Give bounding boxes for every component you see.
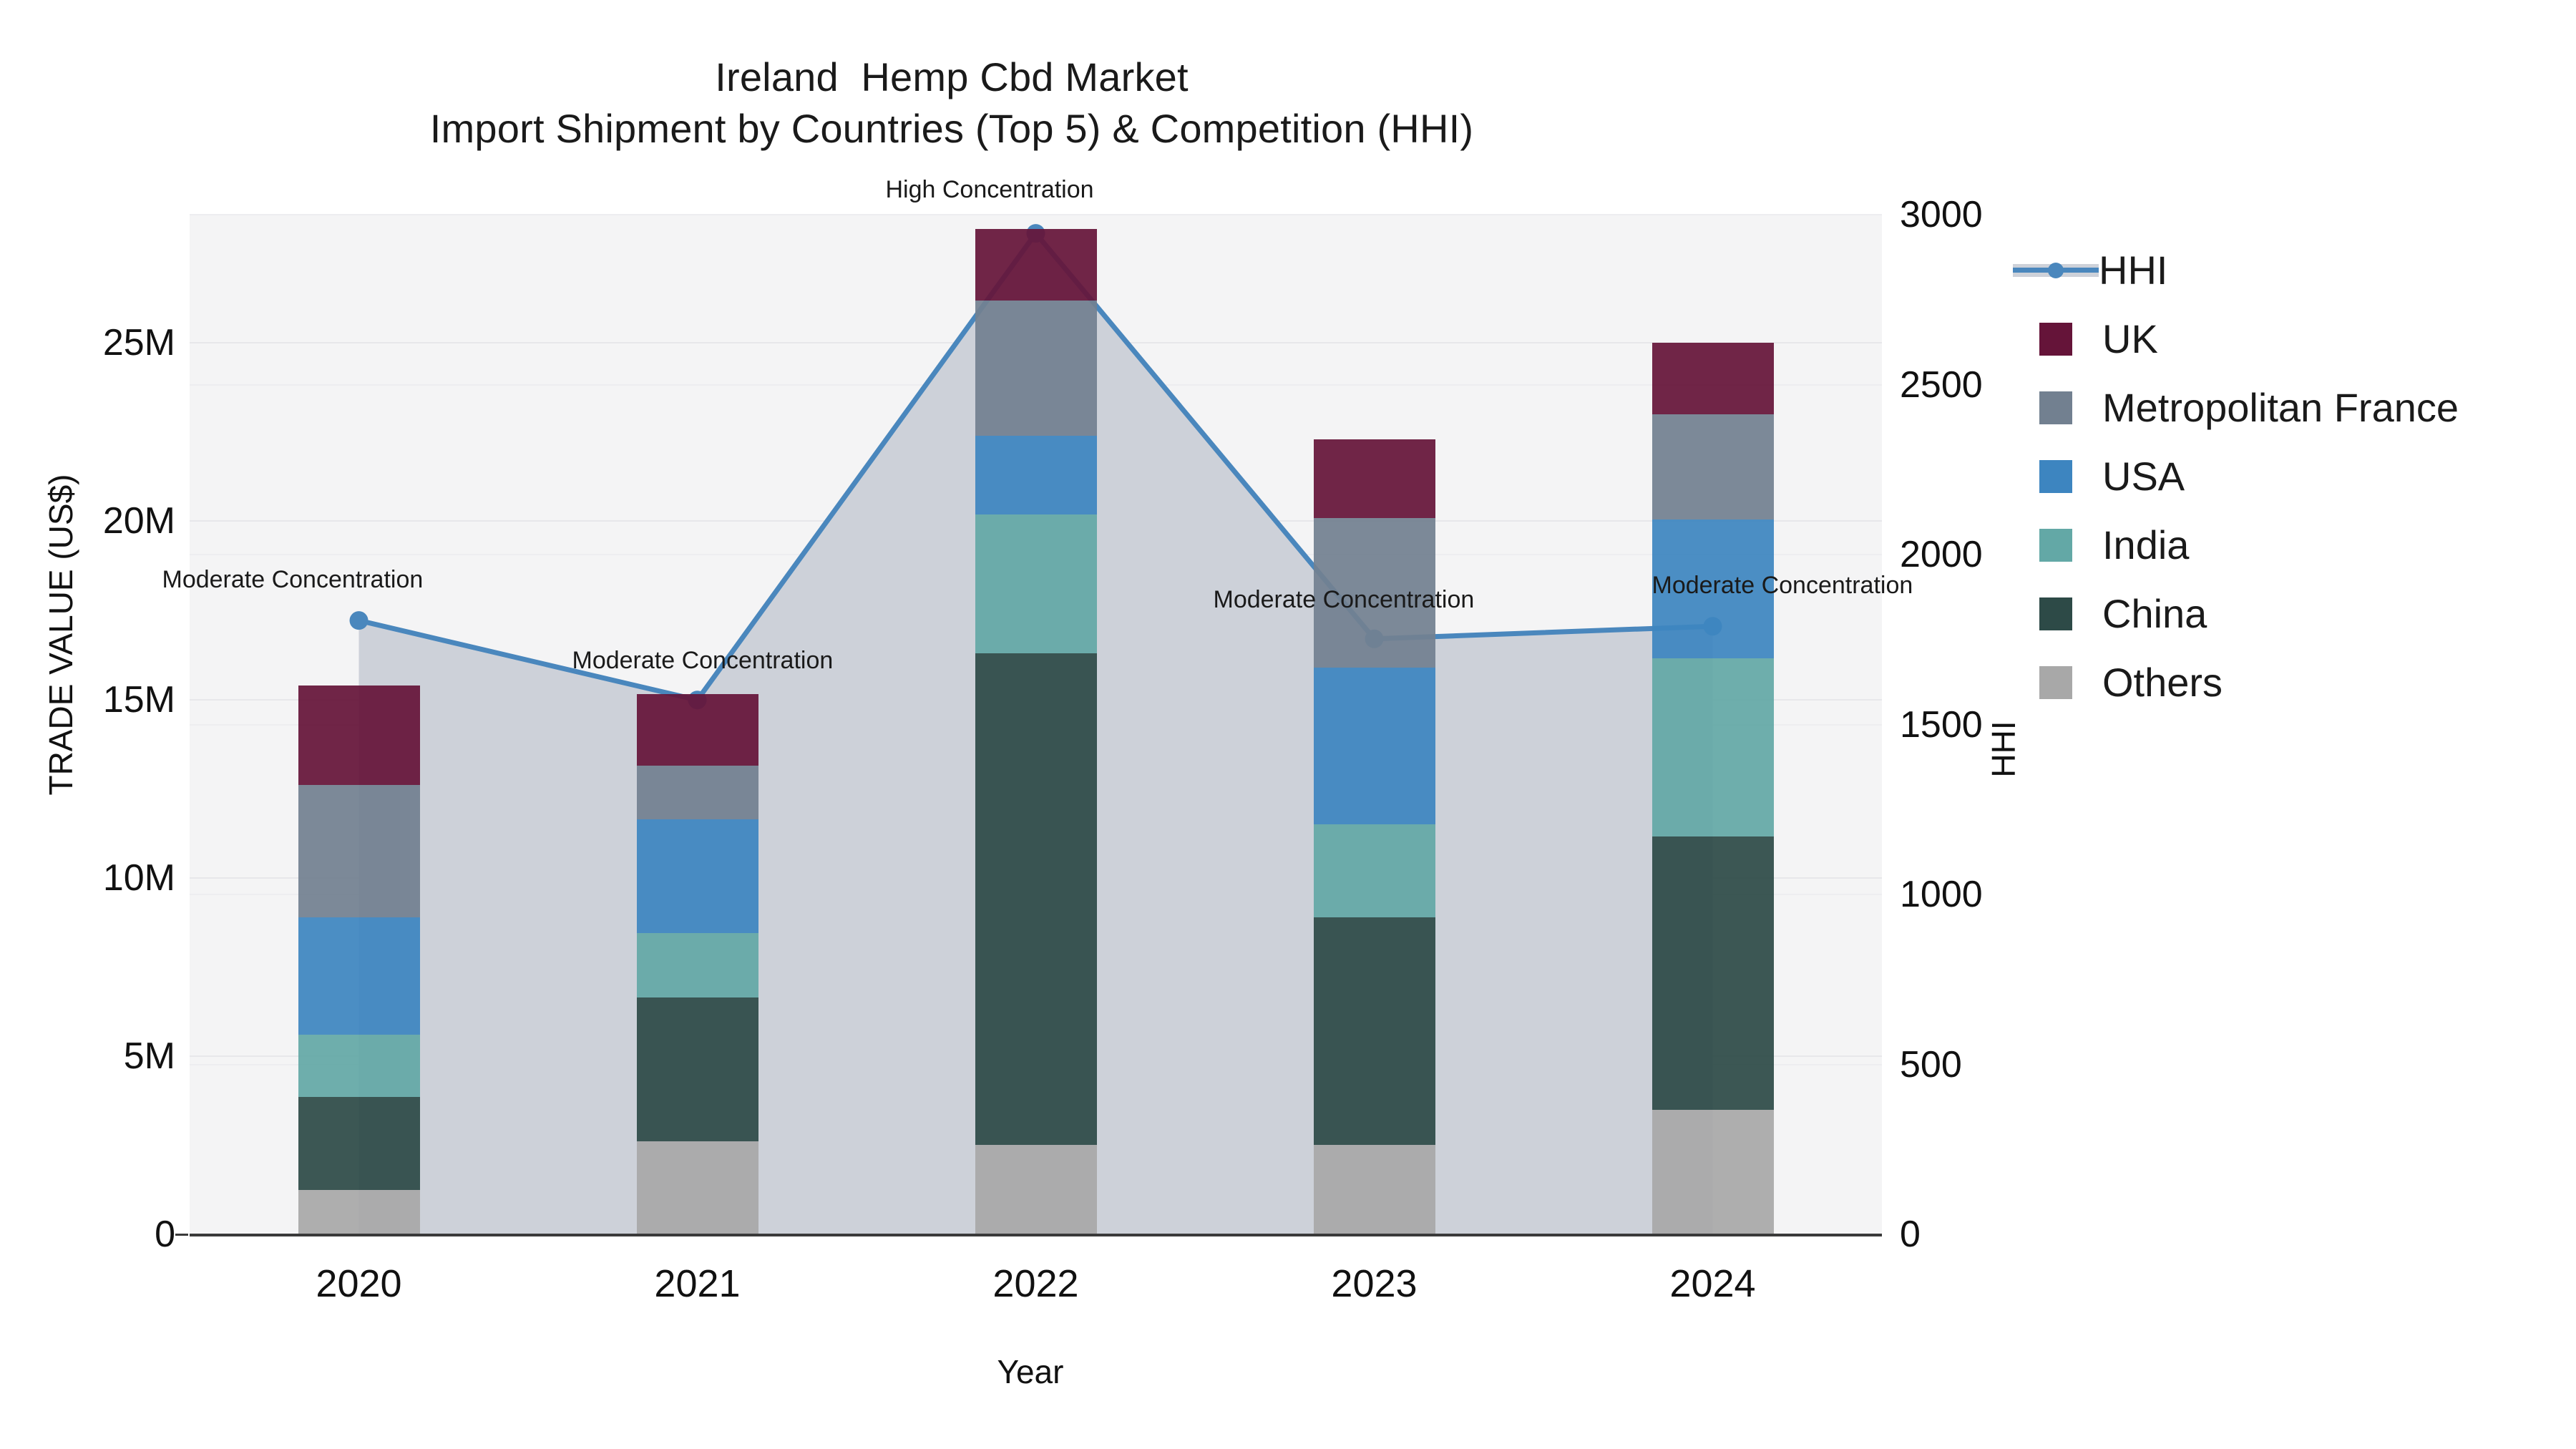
- y-right-tick-label-1: 500: [1900, 1046, 1962, 1083]
- x-tick-label-2022: 2022: [893, 1264, 1179, 1303]
- bar-segment-2023-others[interactable]: [1314, 1145, 1435, 1234]
- legend-swatch-icon: [2039, 323, 2072, 356]
- bar-segment-2022-uk[interactable]: [975, 229, 1097, 301]
- bar-stack-2022[interactable]: [975, 215, 1097, 1234]
- bar-segment-2024-uk[interactable]: [1652, 343, 1774, 414]
- bar-segment-2021-others[interactable]: [637, 1141, 758, 1234]
- legend-swatch-icon: [2039, 460, 2072, 493]
- bar-stack-2021[interactable]: [637, 215, 758, 1234]
- legend-swatch-icon: [2039, 666, 2072, 699]
- legend-label: Metropolitan France: [2102, 388, 2459, 428]
- x-tick-label-2023: 2023: [1231, 1264, 1518, 1303]
- bar-segment-2021-usa[interactable]: [637, 819, 758, 933]
- legend-item-usa[interactable]: USA: [2039, 442, 2555, 511]
- bar-segment-2020-others[interactable]: [298, 1190, 420, 1234]
- bar-segment-2021-uk[interactable]: [637, 694, 758, 766]
- bar-segment-2021-india[interactable]: [637, 933, 758, 997]
- plot-area: Moderate ConcentrationModerate Concentra…: [190, 215, 1882, 1234]
- bar-segment-2020-metropolitan-france[interactable]: [298, 785, 420, 917]
- y-axis-left-title: TRADE VALUE (US$): [42, 420, 80, 849]
- bar-stack-2024[interactable]: [1652, 215, 1774, 1234]
- bar-segment-2024-metropolitan-france[interactable]: [1652, 414, 1774, 519]
- legend-swatch-icon: [2039, 529, 2072, 562]
- annotation-2023: Moderate Concentration: [1214, 587, 1475, 612]
- bar-segment-2024-china[interactable]: [1652, 836, 1774, 1109]
- y-left-tickmark-1: [175, 1055, 188, 1058]
- bar-segment-2020-china[interactable]: [298, 1097, 420, 1190]
- legend-line-marker-icon: [2048, 263, 2064, 278]
- legend-label: UK: [2102, 319, 2158, 359]
- legend-label: India: [2102, 525, 2189, 565]
- y-left-tick-label-0: 0: [11, 1216, 175, 1253]
- bar-segment-2020-uk[interactable]: [298, 686, 420, 786]
- chart-title: Ireland Hemp Cbd Market Import Shipment …: [0, 52, 1903, 154]
- y-left-tick-label-1: 5M: [11, 1038, 175, 1075]
- chart-canvas: Ireland Hemp Cbd Market Import Shipment …: [0, 0, 2576, 1449]
- bar-segment-2021-metropolitan-france[interactable]: [637, 766, 758, 819]
- bar-segment-2020-usa[interactable]: [298, 917, 420, 1035]
- legend-label: Others: [2102, 663, 2223, 703]
- x-axis-title: Year: [816, 1352, 1245, 1391]
- chart-title-line-2: Import Shipment by Countries (Top 5) & C…: [0, 103, 1903, 155]
- y-left-tickmark-5: [175, 342, 188, 344]
- bar-segment-2022-metropolitan-france[interactable]: [975, 301, 1097, 436]
- y-right-tick-label-4: 2000: [1900, 536, 1983, 573]
- legend-swatch-icon: [2039, 391, 2072, 424]
- bar-stack-2023[interactable]: [1314, 215, 1435, 1234]
- bar-segment-2022-others[interactable]: [975, 1145, 1097, 1234]
- bar-segment-2022-china[interactable]: [975, 653, 1097, 1146]
- legend-label: China: [2102, 594, 2207, 634]
- x-axis-line: [190, 1234, 1882, 1236]
- bar-segment-2024-others[interactable]: [1652, 1110, 1774, 1234]
- legend-item-others[interactable]: Others: [2039, 648, 2555, 717]
- legend-item-uk[interactable]: UK: [2039, 305, 2555, 374]
- bar-stack-2020[interactable]: [298, 215, 420, 1234]
- legend-item-metropolitan-france[interactable]: Metropolitan France: [2039, 374, 2555, 442]
- legend-item-india[interactable]: India: [2039, 511, 2555, 580]
- chart-title-line-1: Ireland Hemp Cbd Market: [0, 52, 1903, 103]
- y-right-tick-label-2: 1000: [1900, 876, 1983, 913]
- x-tick-label-2024: 2024: [1570, 1264, 1856, 1303]
- legend-label: USA: [2102, 457, 2185, 497]
- bar-segment-2023-usa[interactable]: [1314, 668, 1435, 824]
- y-left-tickmark-3: [175, 699, 188, 701]
- bar-segment-2024-india[interactable]: [1652, 658, 1774, 836]
- annotation-2022: High Concentration: [886, 177, 1094, 202]
- bar-segment-2023-india[interactable]: [1314, 824, 1435, 917]
- legend: HHIUKMetropolitan FranceUSAIndiaChinaOth…: [2039, 236, 2555, 717]
- y-right-tick-label-6: 3000: [1900, 196, 1983, 233]
- y-axis-right-title: HHI: [1984, 678, 2023, 821]
- legend-item-hhi[interactable]: HHI: [2039, 236, 2555, 305]
- y-right-tick-label-5: 2500: [1900, 366, 1983, 404]
- y-right-tick-label-3: 1500: [1900, 706, 1983, 743]
- y-left-tick-label-2: 10M: [11, 859, 175, 897]
- y-left-tickmark-4: [175, 520, 188, 522]
- bar-segment-2020-india[interactable]: [298, 1035, 420, 1097]
- y-left-tick-label-3: 15M: [11, 681, 175, 718]
- legend-item-china[interactable]: China: [2039, 580, 2555, 648]
- annotation-2024: Moderate Concentration: [1652, 573, 1913, 597]
- y-left-tick-label-5: 25M: [11, 324, 175, 361]
- annotation-2021: Moderate Concentration: [572, 648, 834, 673]
- bar-segment-2022-india[interactable]: [975, 514, 1097, 653]
- x-tick-label-2021: 2021: [555, 1264, 841, 1303]
- bar-segment-2023-china[interactable]: [1314, 917, 1435, 1146]
- y-left-tickmark-0: [175, 1234, 188, 1236]
- bar-segment-2022-usa[interactable]: [975, 436, 1097, 514]
- x-tick-label-2020: 2020: [216, 1264, 502, 1303]
- annotation-2020: Moderate Concentration: [162, 567, 424, 592]
- bar-segment-2023-uk[interactable]: [1314, 439, 1435, 518]
- legend-line-icon: [2013, 254, 2099, 287]
- legend-swatch-icon: [2039, 597, 2072, 630]
- y-left-tick-label-4: 20M: [11, 502, 175, 540]
- y-left-tickmark-2: [175, 877, 188, 879]
- bar-segment-2021-china[interactable]: [637, 997, 758, 1142]
- y-right-tick-label-0: 0: [1900, 1216, 1921, 1253]
- legend-label: HHI: [2099, 250, 2167, 291]
